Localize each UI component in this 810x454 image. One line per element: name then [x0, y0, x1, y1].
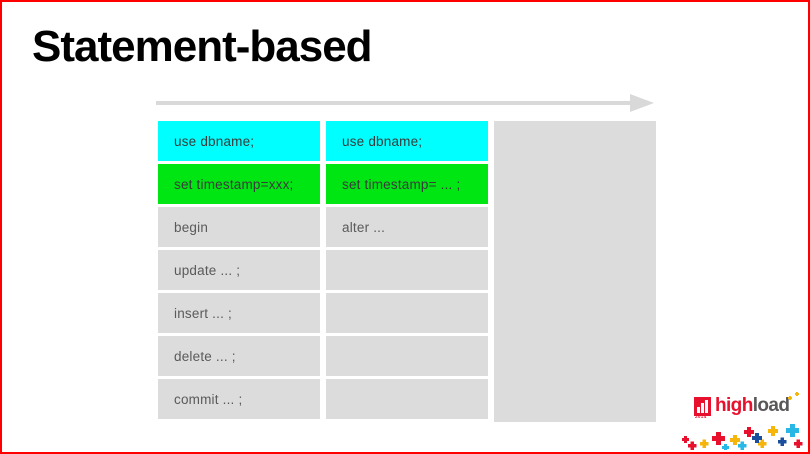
logo-wordmark: high load [694, 395, 789, 417]
logo-word-load: load [753, 395, 790, 417]
table-row[interactable]: delete ... ; [158, 336, 320, 376]
highload-logo: high load 2014 [682, 388, 804, 450]
table-row[interactable]: insert ... ; [158, 293, 320, 333]
table-row[interactable] [326, 293, 488, 333]
table-row[interactable]: use dbname; [158, 121, 320, 161]
page-title: Statement-based [32, 24, 372, 70]
table-column-transaction-stream: use dbname; set timestamp=xxx; begin upd… [158, 121, 320, 419]
arrow-head-icon [630, 94, 654, 112]
table-row[interactable]: commit ... ; [158, 379, 320, 419]
confetti-decoration [682, 416, 804, 450]
arrow-shaft [156, 101, 634, 105]
logo-plus-icon [788, 396, 792, 400]
table-row[interactable] [326, 250, 488, 290]
table-row[interactable]: use dbname; [326, 121, 488, 161]
table-row[interactable]: set timestamp=xxx; [158, 164, 320, 204]
table-row[interactable] [326, 336, 488, 376]
table-row[interactable]: update ... ; [158, 250, 320, 290]
table-row[interactable]: begin [158, 207, 320, 247]
highload-bars-icon [694, 397, 711, 416]
table-row[interactable]: alter ... [326, 207, 488, 247]
table-row[interactable]: set timestamp= ... ; [326, 164, 488, 204]
table-row[interactable] [326, 379, 488, 419]
logo-year: 2014 [695, 414, 707, 419]
logo-plus-icon [795, 392, 799, 396]
statement-stream-table: use dbname; set timestamp=xxx; begin upd… [158, 121, 656, 422]
slide-canvas: Statement-based use dbname; set timestam… [0, 0, 810, 454]
time-flow-arrow [156, 92, 656, 114]
empty-stream-placeholder [494, 121, 656, 422]
table-column-ddl-stream: use dbname; set timestamp= ... ; alter .… [326, 121, 488, 419]
logo-word-high: high [715, 395, 753, 417]
